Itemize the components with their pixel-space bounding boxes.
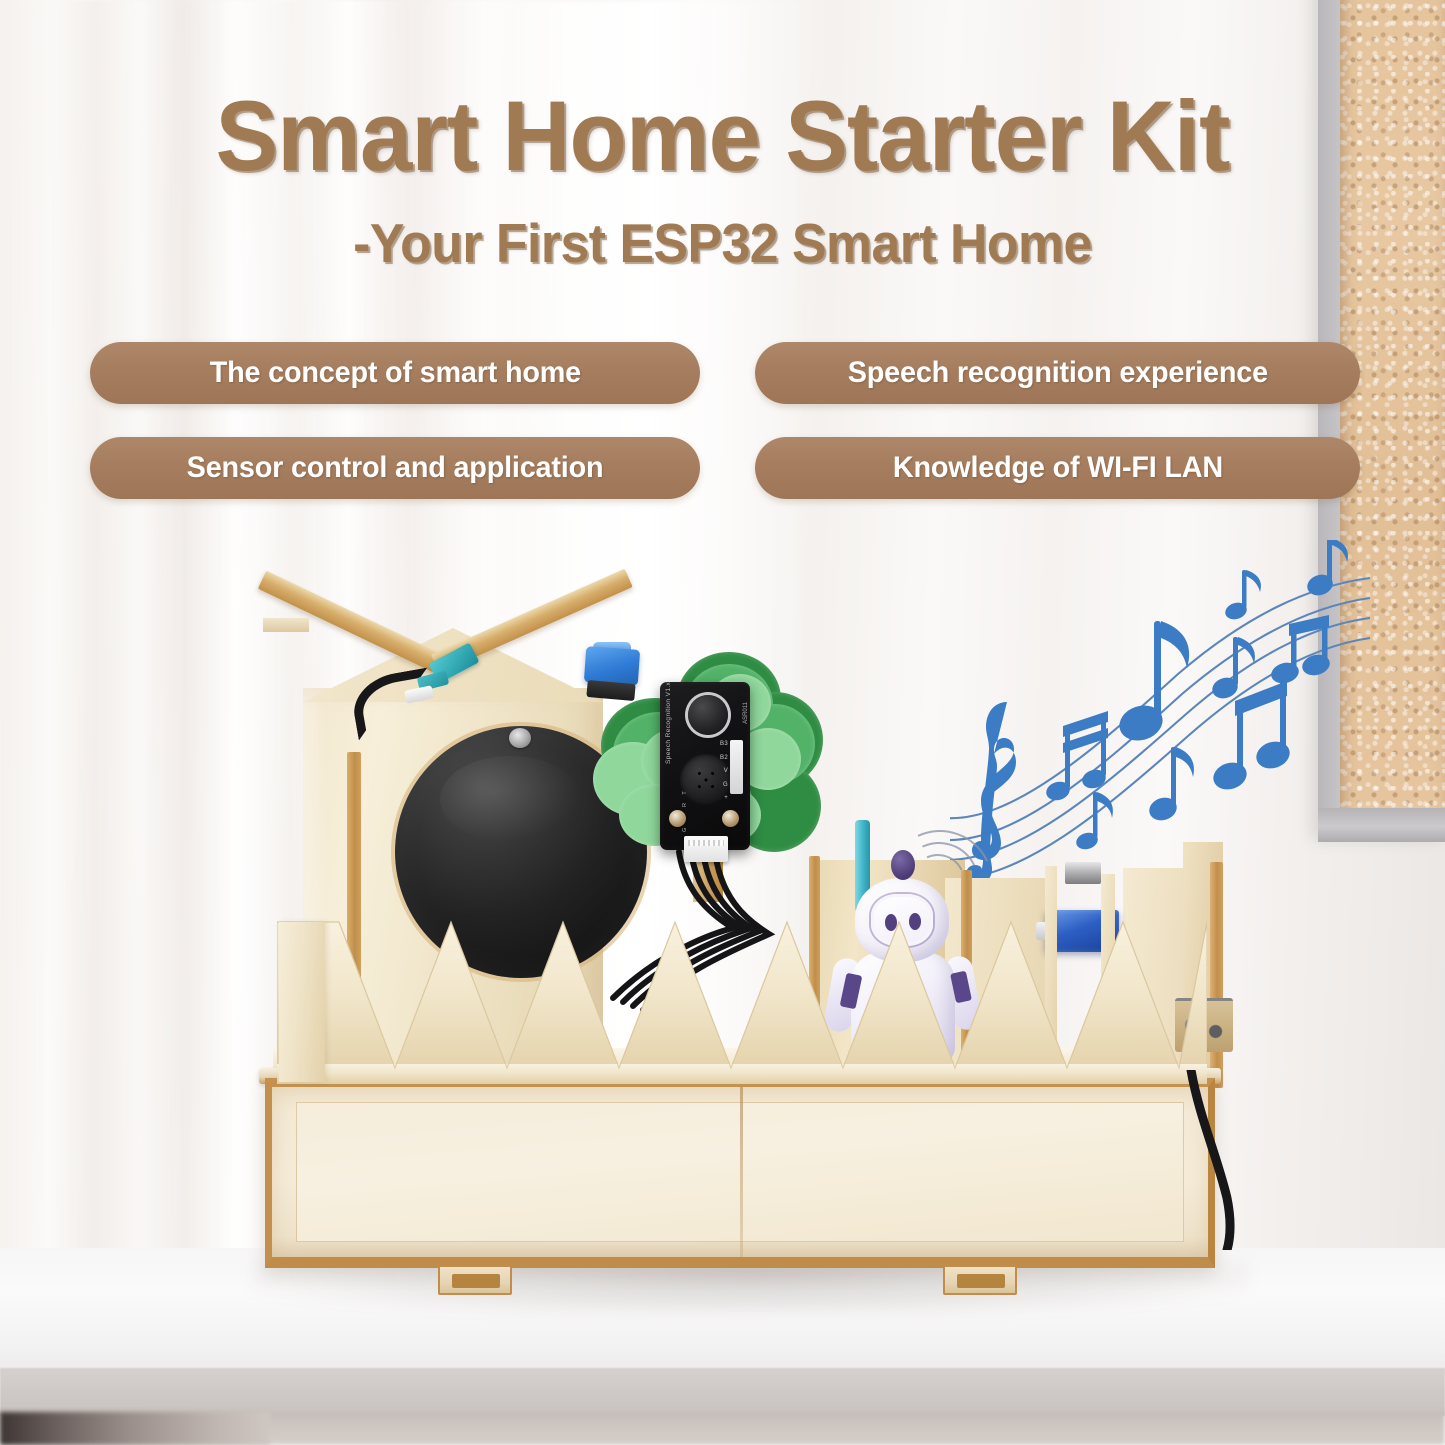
module-pin-header bbox=[730, 740, 743, 794]
background-dark-blur bbox=[0, 1412, 270, 1445]
module-screw-right bbox=[722, 810, 739, 827]
speech-recognition-module: B3 B2 V G + Speech Recognition V1.x ASR0… bbox=[660, 682, 750, 850]
feature-pill-label: Knowledge of WI-FI LAN bbox=[892, 451, 1222, 485]
pin-label-b2: B2 bbox=[720, 752, 728, 766]
base-box bbox=[265, 1078, 1215, 1268]
right-vertical-rail bbox=[1210, 862, 1223, 1088]
connector-teeth bbox=[688, 840, 724, 846]
robot-antenna bbox=[891, 850, 915, 880]
product-poster: B3 B2 V G + Speech Recognition V1.x ASR0… bbox=[0, 0, 1445, 1445]
module-screw-left bbox=[669, 810, 686, 827]
zigzag-fence bbox=[277, 918, 1207, 1084]
base-center-seam bbox=[740, 1087, 743, 1257]
feature-pill-label: Sensor control and application bbox=[187, 451, 604, 485]
module-bottom-labels: G V R T bbox=[682, 788, 688, 832]
pin-label-plus: + bbox=[720, 792, 728, 806]
servo-mount-plate bbox=[263, 618, 309, 632]
desk-front-edge bbox=[0, 1368, 1445, 1416]
pin-label-b3: B3 bbox=[720, 738, 728, 752]
microphone-holes bbox=[695, 769, 717, 791]
window-glare bbox=[440, 756, 581, 842]
module-pin-labels: B3 B2 V G + bbox=[720, 738, 728, 806]
feature-pill-label: Speech recognition experience bbox=[847, 356, 1267, 390]
feature-pill-smart-home-concept: The concept of smart home bbox=[90, 342, 700, 404]
fence-end-post bbox=[279, 922, 325, 1082]
power-cable-right bbox=[1183, 1070, 1239, 1250]
feature-pill-speech-recognition: Speech recognition experience bbox=[755, 342, 1360, 404]
wooden-smart-home-model: B3 B2 V G + Speech Recognition V1.x ASR0… bbox=[255, 630, 1255, 1310]
metal-bracket bbox=[1065, 862, 1101, 884]
pin-label-g: G bbox=[720, 779, 728, 793]
feature-pill-wifi-lan: Knowledge of WI-FI LAN bbox=[755, 437, 1360, 499]
module-silkscreen-side: Speech Recognition V1.x bbox=[665, 682, 672, 764]
window-screw bbox=[509, 728, 531, 748]
feature-pill-group: The concept of smart home Speech recogni… bbox=[0, 0, 1445, 520]
module-button bbox=[688, 695, 728, 735]
pin-label-v: V bbox=[720, 765, 728, 779]
base-foot-left bbox=[438, 1265, 512, 1295]
base-foot-right bbox=[943, 1265, 1017, 1295]
feature-pill-sensor-control: Sensor control and application bbox=[90, 437, 700, 499]
feature-pill-label: The concept of smart home bbox=[209, 356, 580, 390]
module-connector bbox=[684, 836, 728, 862]
module-silkscreen-top: ASR011 bbox=[743, 702, 749, 724]
